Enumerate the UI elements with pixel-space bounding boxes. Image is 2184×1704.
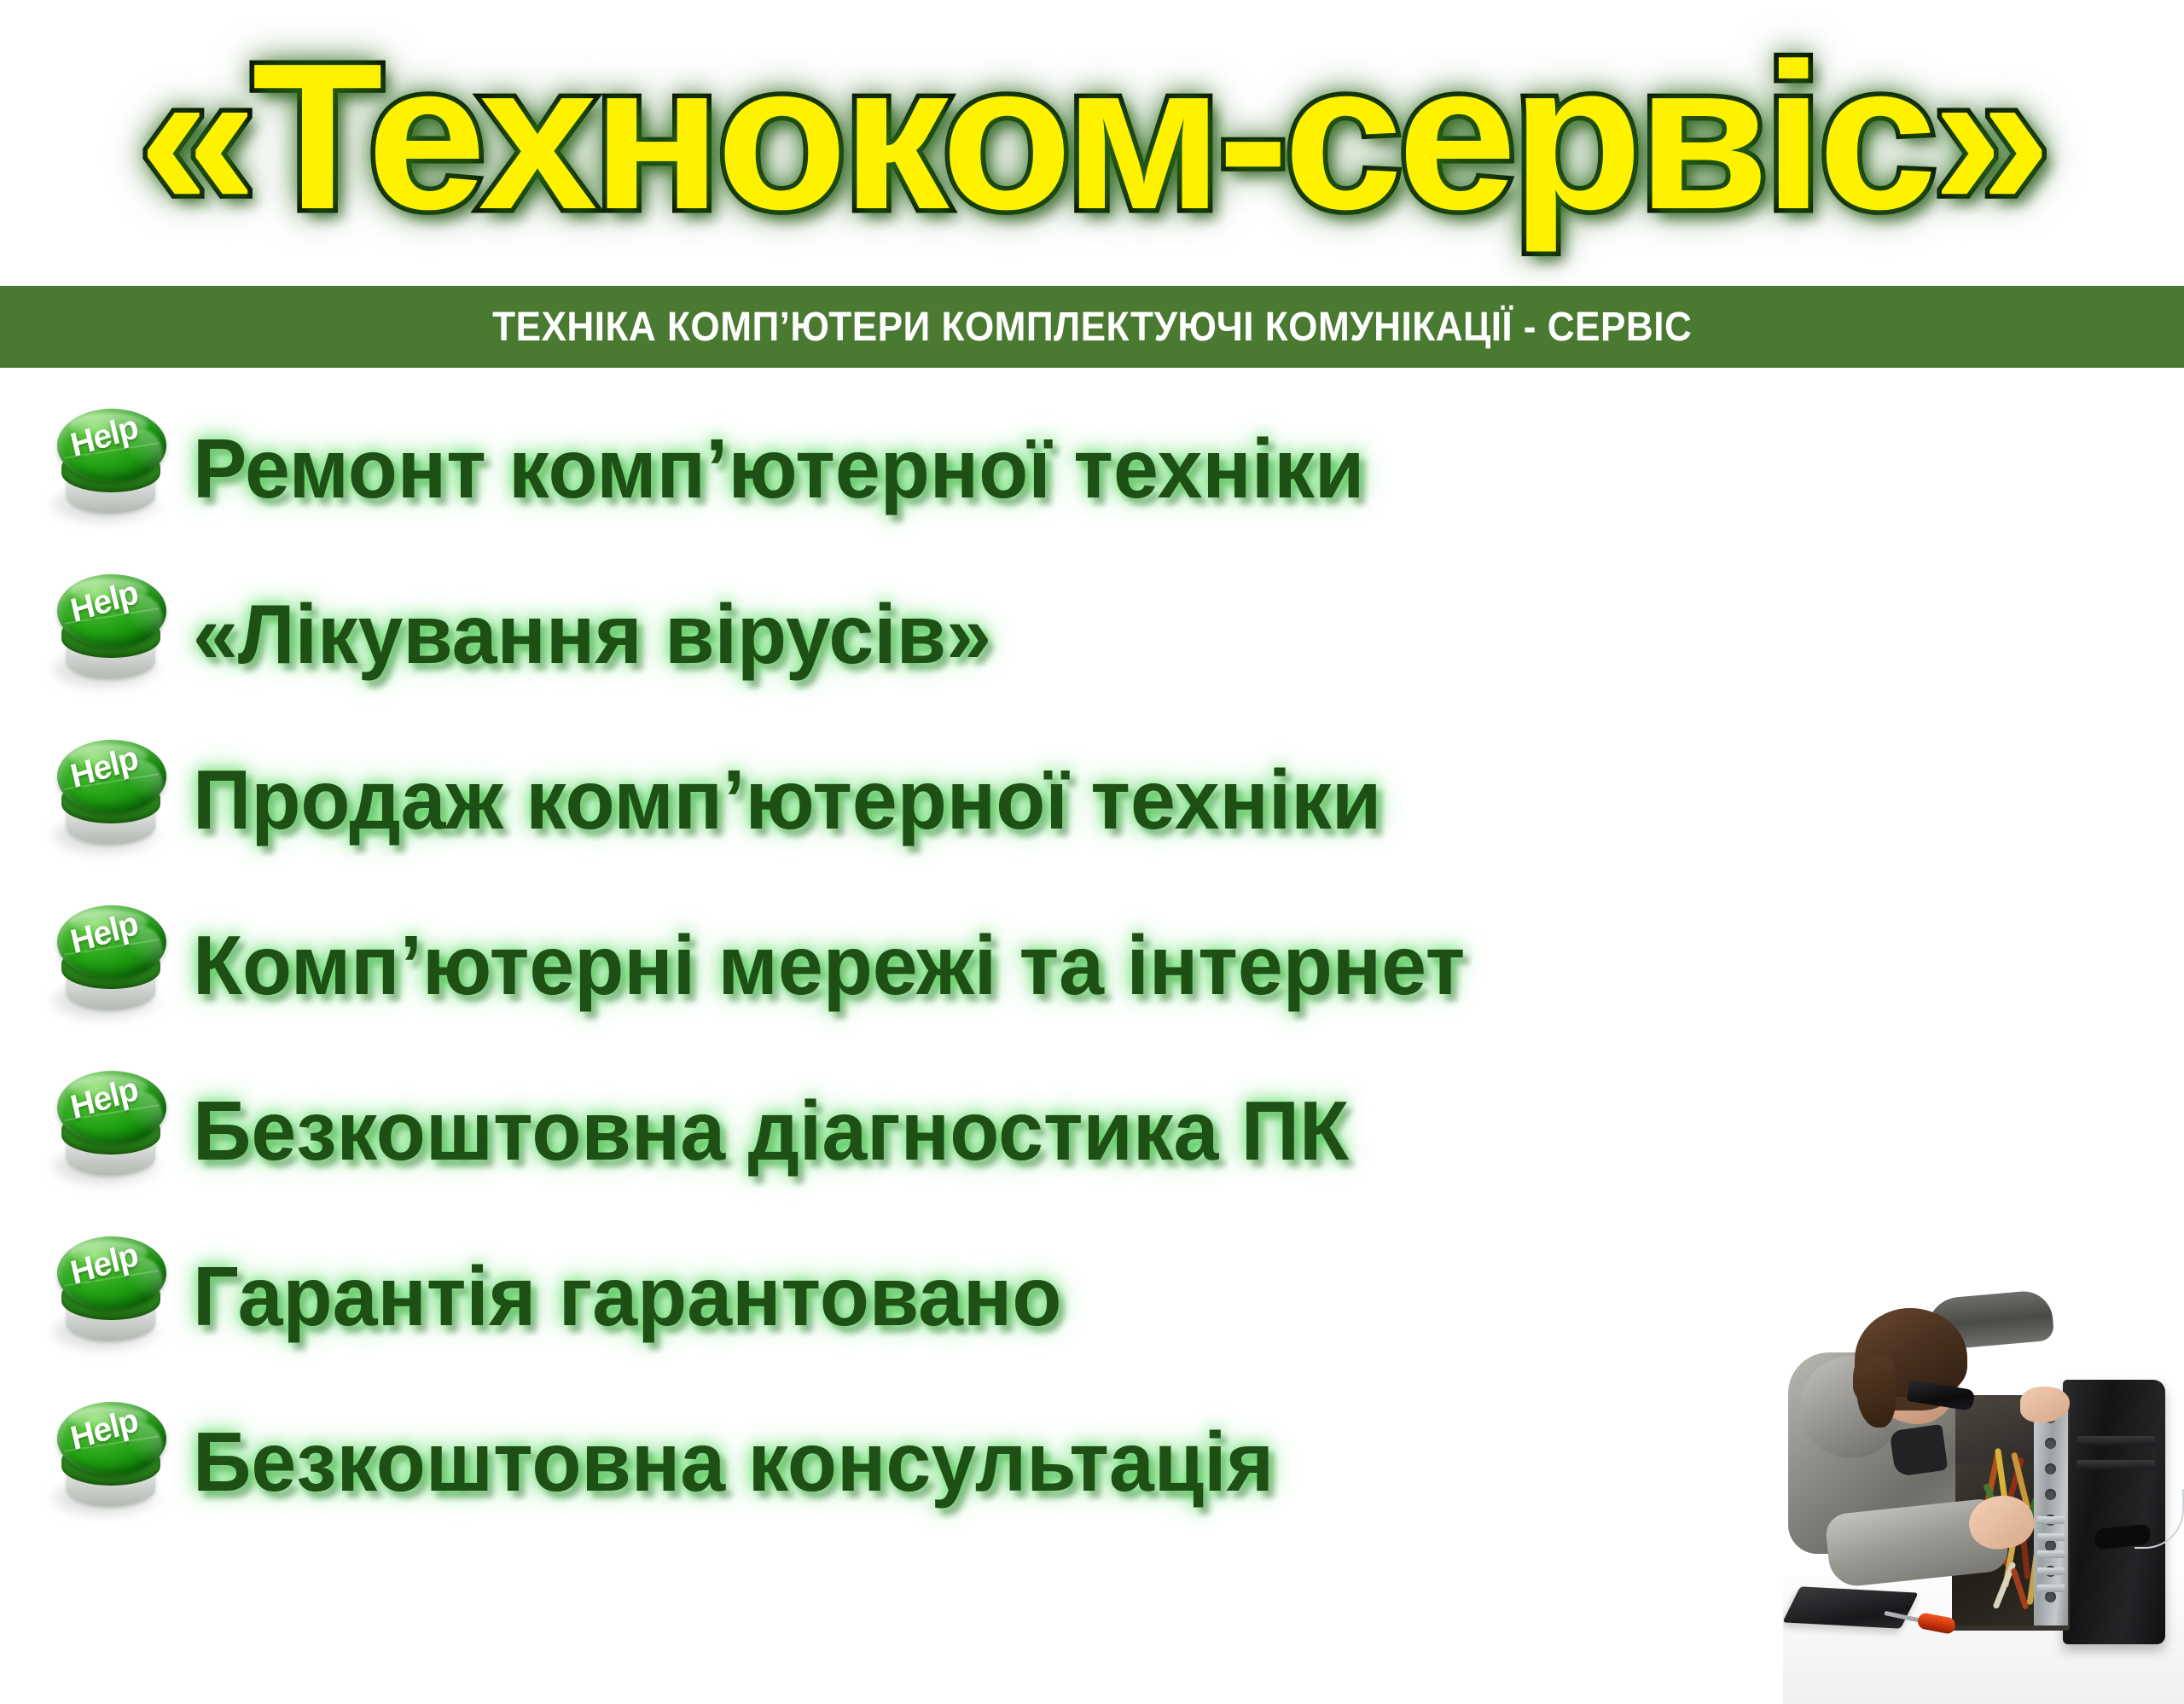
pc-slot-plate	[2037, 1550, 2065, 1558]
service-label: Продаж комп’ютерної техніки	[193, 753, 1381, 846]
service-label: Комп’ютерні мережі та інтернет	[193, 918, 1465, 1012]
keyboard-icon	[1783, 1586, 1919, 1628]
pc-slot-plate	[2037, 1516, 2065, 1524]
help-button-icon[interactable]: Help	[49, 1062, 174, 1199]
button-label-wrap: Help	[49, 566, 159, 639]
list-item[interactable]: Help «Лікування вірусів»	[0, 551, 2184, 717]
button-label-wrap: Help	[49, 897, 159, 970]
list-item[interactable]: Help Ремонт комп’ютерної техніки	[0, 386, 2184, 551]
help-label: Help	[67, 1402, 142, 1459]
pc-slot-plate	[2037, 1585, 2065, 1592]
page-title: «Техноком-сервіс»	[0, 9, 2184, 265]
title-band: «Техноком-сервіс»	[0, 0, 2184, 286]
service-label: Гарантія гарантовано	[193, 1249, 1061, 1343]
help-button-icon[interactable]: Help	[49, 1393, 174, 1530]
list-item[interactable]: Help Комп’ютерні мережі та інтернет	[0, 882, 2184, 1048]
pc-drive-bay	[2077, 1436, 2155, 1445]
pc-slot-plate	[2037, 1533, 2065, 1541]
help-label: Help	[67, 905, 142, 962]
button-label-wrap: Help	[49, 400, 159, 474]
help-button-icon[interactable]: Help	[49, 1228, 174, 1364]
pc-slot-plate	[2037, 1567, 2065, 1575]
help-button-icon[interactable]: Help	[49, 566, 174, 702]
service-label: Ремонт комп’ютерної техніки	[193, 422, 1364, 515]
help-label: Help	[67, 740, 142, 797]
help-button-icon[interactable]: Help	[49, 897, 174, 1033]
technician-hair-side	[1856, 1356, 1896, 1428]
technician-collar	[1890, 1424, 1949, 1477]
help-label: Help	[67, 1236, 142, 1294]
tagline-banner: ТЕХНІКА КОМП’ЮТЕРИ КОМПЛЕКТУЮЧІ КОМУНІКА…	[0, 286, 2184, 368]
help-label: Help	[67, 409, 142, 466]
power-cord	[2135, 1489, 2184, 1549]
button-label-wrap: Help	[49, 1062, 159, 1136]
button-label-wrap: Help	[49, 1228, 159, 1301]
help-label: Help	[67, 574, 142, 631]
help-button-icon[interactable]: Help	[49, 400, 174, 537]
tagline-text: ТЕХНІКА КОМП’ЮТЕРИ КОМПЛЕКТУЮЧІ КОМУНІКА…	[492, 304, 1692, 351]
service-label: «Лікування вірусів»	[193, 587, 991, 681]
pc-drive-bay	[2077, 1460, 2155, 1469]
list-item[interactable]: Help Продаж комп’ютерної техніки	[0, 717, 2184, 882]
service-label: Безкоштовна консультація	[193, 1415, 1274, 1509]
help-label: Help	[67, 1071, 142, 1128]
list-item[interactable]: Help Безкоштовна діагностика ПК	[0, 1048, 2184, 1213]
button-label-wrap: Help	[49, 1393, 159, 1467]
service-label: Безкоштовна діагностика ПК	[193, 1084, 1349, 1178]
help-button-icon[interactable]: Help	[49, 731, 174, 868]
technician-repairing-pc-photo	[1783, 1277, 2184, 1704]
button-label-wrap: Help	[49, 731, 159, 805]
